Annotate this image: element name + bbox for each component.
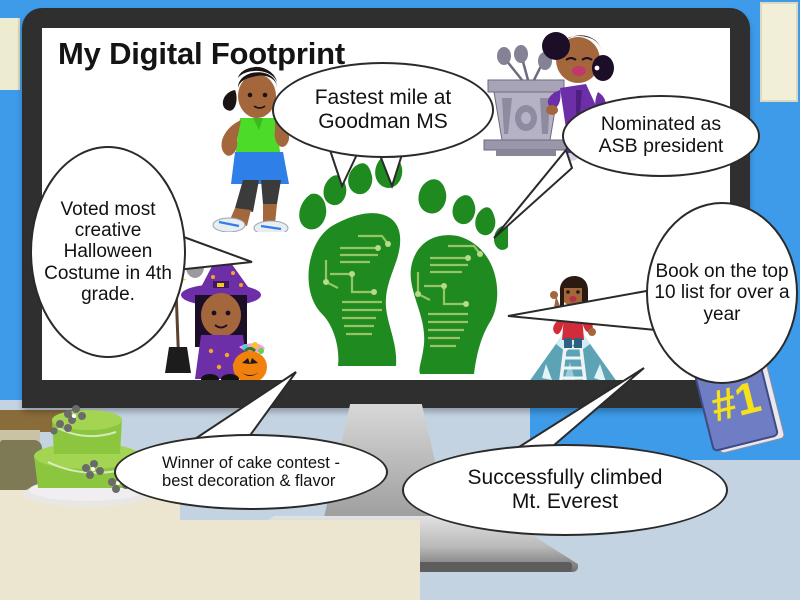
bubble-text: Voted most creative Halloween Costume in… <box>32 197 184 307</box>
green-footprints-graphic <box>278 152 508 382</box>
bubble-mt-everest[interactable]: Successfully climbed Mt. Everest <box>402 444 728 536</box>
wall-poster-left <box>0 18 20 90</box>
page-title: My Digital Footprint <box>58 36 345 72</box>
bubble-halloween-costume[interactable]: Voted most creative Halloween Costume in… <box>30 146 186 358</box>
bubble-line-2: Mt. Everest <box>468 490 663 514</box>
bubble-line-1: Fastest mile at <box>315 86 452 110</box>
bubble-line-1: Winner of cake contest - <box>162 454 340 472</box>
mountain-climber-girl-icon <box>516 268 636 398</box>
bubble-text: Book on the top 10 list for over a year <box>648 259 796 327</box>
bubble-line-2: best decoration & flavor <box>162 472 340 490</box>
bubble-cake-contest[interactable]: Winner of cake contest - best decoration… <box>114 434 388 510</box>
bubble-line-2: Goodman MS <box>315 110 452 134</box>
front-desk <box>0 520 420 600</box>
bubble-line-1: Nominated as <box>599 114 724 136</box>
bubble-line-2: ASB president <box>599 136 724 158</box>
bubble-book-top-10[interactable]: Book on the top 10 list for over a year <box>646 202 798 384</box>
wall-poster-right <box>760 2 798 102</box>
slide-canvas: My Digital Footprint <box>0 0 800 600</box>
bubble-fastest-mile[interactable]: Fastest mile at Goodman MS <box>272 62 494 158</box>
bubble-line-1: Successfully climbed <box>468 466 663 490</box>
bubble-asb-president[interactable]: Nominated as ASB president <box>562 95 760 177</box>
